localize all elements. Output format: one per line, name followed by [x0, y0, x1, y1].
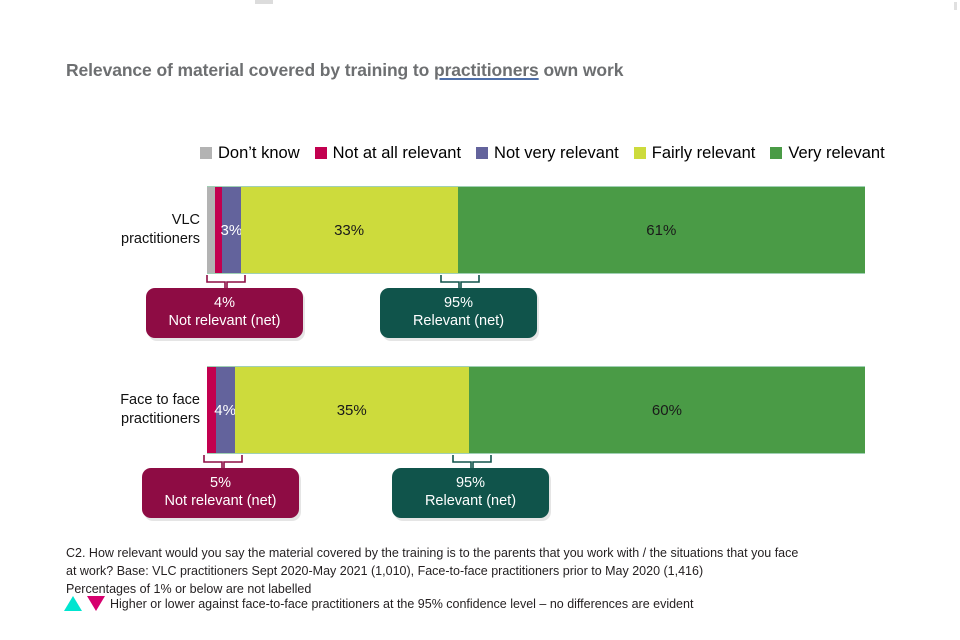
bar-value-f2f-very: 60% [652, 402, 682, 419]
net-caption-f2f-not-relevant: Not relevant (net) [152, 492, 289, 510]
footnote-line-1: C2. How relevant would you say the mater… [66, 545, 926, 562]
category-label-vlc-practitioners: VLC practitioners [70, 211, 200, 249]
net-caption-f2f-relevant: Relevant (net) [402, 492, 539, 510]
net-box-vlc-not-relevant: 4% Not relevant (net) [146, 288, 303, 338]
significance-note: Higher or lower against face-to-face pra… [64, 596, 693, 611]
triangle-up-icon [64, 596, 82, 611]
net-box-vlc-relevant: 95% Relevant (net) [380, 288, 537, 338]
bar-segment-f2f-not-very[interactable]: 4% [216, 367, 235, 453]
category-label-vlc-line1: VLC [70, 211, 200, 230]
bar-value-vlc-fairly: 33% [334, 222, 364, 239]
bar-segment-vlc-very[interactable]: 61% [458, 187, 865, 273]
net-pct-vlc-not-relevant: 4% [156, 294, 293, 312]
triangle-down-icon [87, 596, 105, 611]
category-label-vlc-line2: practitioners [70, 230, 200, 249]
significance-note-text: Higher or lower against face-to-face pra… [110, 597, 693, 611]
bar-value-vlc-very: 61% [646, 222, 676, 239]
stacked-bar-chart: VLC practitioners 3% 33% 61% [0, 0, 960, 640]
bar-segment-f2f-very[interactable]: 60% [469, 367, 865, 453]
bar-face-to-face-practitioners: 4% 35% 60% [207, 366, 865, 454]
bar-segment-vlc-not-very[interactable]: 3% [222, 187, 240, 273]
net-caption-vlc-relevant: Relevant (net) [390, 312, 527, 330]
category-label-face-to-face-practitioners: Face to face practitioners [70, 391, 200, 429]
net-caption-vlc-not-relevant: Not relevant (net) [156, 312, 293, 330]
bar-value-f2f-not-very: 4% [214, 402, 236, 419]
bar-segment-vlc-fairly[interactable]: 33% [241, 187, 458, 273]
net-pct-f2f-not-relevant: 5% [152, 474, 289, 492]
slide-canvas: Relevance of material covered by trainin… [0, 0, 960, 640]
category-label-f2f-line1: Face to face [70, 391, 200, 410]
bar-segment-vlc-dont-know[interactable] [207, 187, 215, 273]
footnote-line-2: at work? Base: VLC practitioners Sept 20… [66, 563, 926, 580]
category-label-f2f-line2: practitioners [70, 410, 200, 429]
net-pct-vlc-relevant: 95% [390, 294, 527, 312]
net-box-f2f-not-relevant: 5% Not relevant (net) [142, 468, 299, 518]
net-pct-f2f-relevant: 95% [402, 474, 539, 492]
bar-vlc-practitioners: 3% 33% 61% [207, 186, 865, 274]
net-box-f2f-relevant: 95% Relevant (net) [392, 468, 549, 518]
bar-value-f2f-fairly: 35% [337, 402, 367, 419]
bar-segment-f2f-fairly[interactable]: 35% [235, 367, 469, 453]
bar-value-vlc-not-very: 3% [221, 222, 243, 239]
